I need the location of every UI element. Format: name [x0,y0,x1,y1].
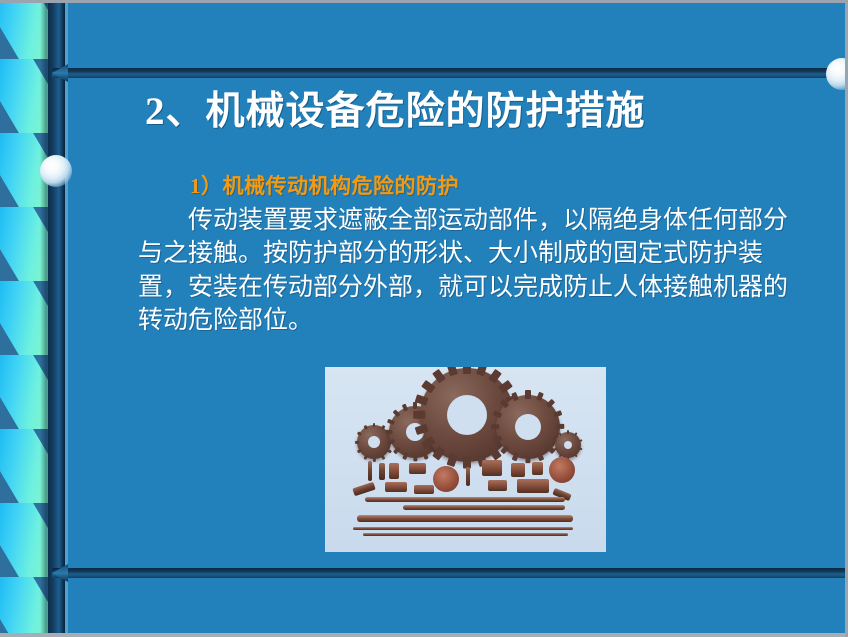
gear-tooth [463,367,471,374]
gear-bore [515,414,541,440]
gear-tooth [402,452,409,460]
ribbon-segment [0,3,52,59]
gear-tooth [579,439,583,442]
coupling-block [389,463,399,479]
gear-tooth [413,402,417,409]
gear-bore [368,436,380,448]
spacer-block [532,462,543,475]
gear-tooth [413,455,417,462]
gear-tooth [546,399,556,409]
gear-tooth [491,424,499,429]
zigzag-ribbon-decoration [0,3,52,634]
gear-tooth [380,454,385,459]
gear-tooth [432,369,446,384]
machine-parts-photo [325,367,606,552]
ribbon-segment [0,577,52,634]
gear-tooth [363,424,368,429]
divider-bar-top [52,68,848,78]
gear-tooth [421,380,436,394]
ribbon-segment [0,59,52,133]
gear-tooth [447,367,458,377]
gear-tooth [511,452,519,462]
bushing [379,463,385,480]
bevel-gear [433,466,459,492]
slide-title: 2、机械设备危险的防护措施 [145,92,805,133]
slide-sub-heading: 1）机械传动机构危险的防护 [190,170,459,200]
thin-rod [353,527,573,530]
connecting-rod-block [517,479,549,493]
gear-tooth [392,447,400,455]
shaft-pin [368,461,372,481]
gear-tooth [422,452,429,460]
gear-tooth [511,392,519,402]
gear-tooth [380,424,385,429]
slide-content: 2、机械设备危险的防护措施 1）机械传动机构危险的防护 传动装置要求遮蔽全部运动… [68,78,848,568]
roller-segment [409,463,426,474]
gear-sprocket [496,395,560,459]
gear-tooth [447,453,458,467]
thin-rod [363,533,568,536]
gear-bore [564,441,572,449]
gear-tooth [574,454,578,458]
drive-shaft [403,505,565,510]
gear-tooth [553,411,563,419]
ribbon-segment [0,429,52,503]
gear-tooth [385,430,392,434]
slide-frame-bottom [0,633,848,637]
ribbon-segment [0,355,52,429]
gear-tooth [500,399,510,409]
gear-tooth [363,454,368,459]
gear-tooth [554,448,558,451]
spacer-block [511,463,525,477]
gear-tooth [567,430,569,433]
main-shaft [357,515,573,522]
slide-frame-top [0,0,848,3]
gear-tooth [488,446,502,461]
shaft-pin [466,467,470,486]
coupling-block [488,480,507,491]
gear-tooth [525,455,530,463]
chain-link [385,482,407,492]
gear-tooth [355,441,359,444]
photo-content [325,367,606,552]
gear-tooth [579,448,583,451]
divider-bar-bottom [52,568,848,578]
gear-tooth [356,431,361,436]
gear-tooth [432,446,446,461]
gear-tooth [558,432,562,436]
gear-tooth [413,411,425,419]
ribbon-segment [0,503,52,577]
gear-tooth [476,367,487,377]
gear-tooth [536,392,544,402]
ribbon-segment [0,207,52,281]
gear-tooth [536,452,544,462]
presentation-slide: 2、机械设备危险的防护措施 1）机械传动机构危险的防护 传动装置要求遮蔽全部运动… [0,0,848,637]
gear-tooth [356,448,361,453]
gear-tooth [488,369,502,384]
drive-shaft [365,497,565,502]
gear-tooth [500,445,510,455]
gear-tooth [392,409,400,417]
slide-body-text: 传动装置要求遮蔽全部运动部件，以隔绝身体任何部分与之接触。按防护部分的形状、大小… [138,204,800,337]
gear-sprocket [555,432,581,458]
chain-link-set [482,460,502,476]
gear-tooth [387,419,395,426]
gear-tooth [373,423,376,427]
flange-disc [549,457,575,483]
gear-bore [447,395,487,435]
gear-tooth [525,390,530,398]
gear-tooth [498,380,513,394]
gear-tooth [386,448,391,453]
gear-tooth [556,424,564,429]
gear-tooth [574,432,578,436]
gear-tooth [402,404,409,412]
chain-link [414,485,434,494]
gear-tooth [373,457,376,461]
glow-orb-left-icon [40,155,72,187]
wrench-piece [352,482,375,496]
ribbon-segment [0,281,52,355]
